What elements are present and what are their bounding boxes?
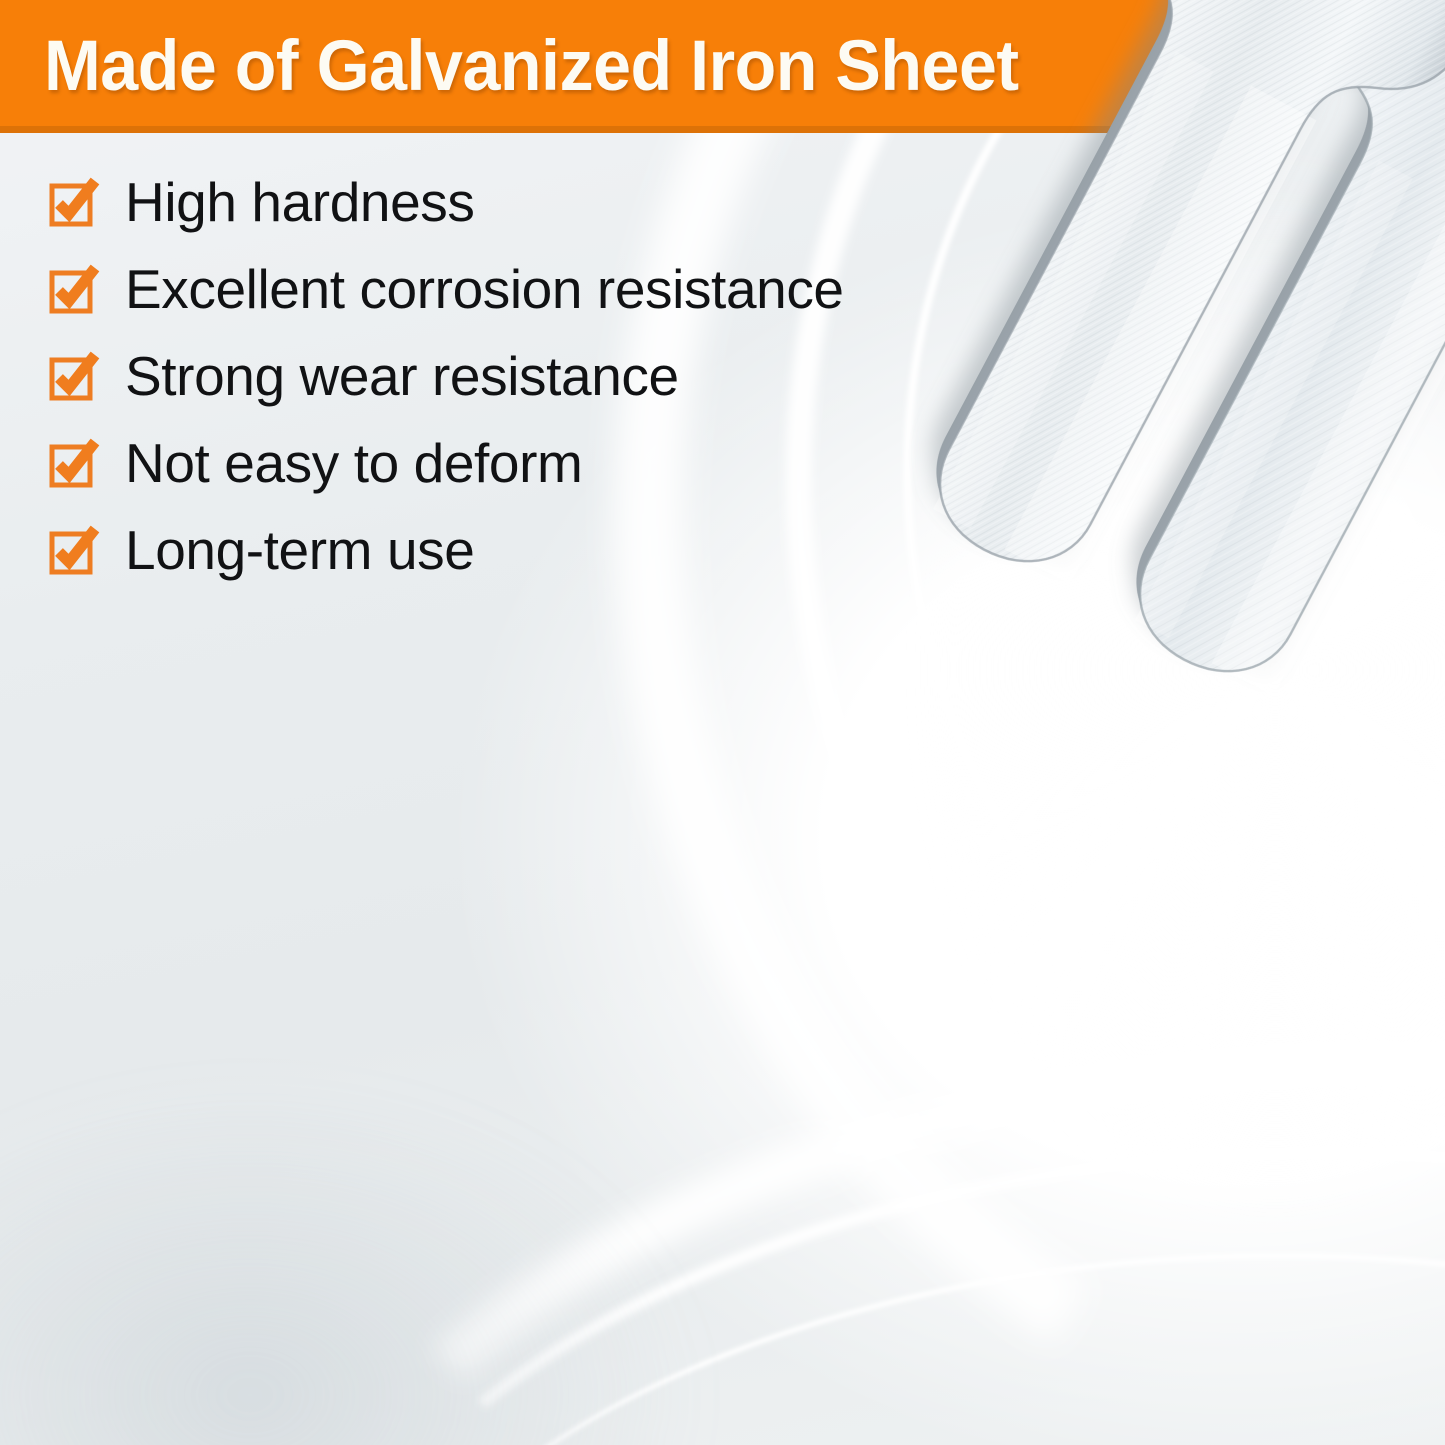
checkbox-checked-icon xyxy=(48,524,100,576)
background-shadow xyxy=(0,1085,700,1445)
list-item: Long-term use xyxy=(48,520,948,607)
list-item: Strong wear resistance xyxy=(48,346,948,433)
list-item: Not easy to deform xyxy=(48,433,948,520)
product-feature-image: Made of Galvanized Iron Sheet High hardn… xyxy=(0,0,1445,1445)
list-item: High hardness xyxy=(48,172,948,259)
checkbox-checked-icon xyxy=(48,350,100,402)
background-glow-right xyxy=(925,120,1445,1220)
checkbox-checked-icon xyxy=(48,176,100,228)
checkbox-checked-icon xyxy=(48,263,100,315)
feature-list: High hardness Excellent corrosion resist… xyxy=(48,172,948,607)
list-item-label: Strong wear resistance xyxy=(125,346,679,406)
list-item-label: Not easy to deform xyxy=(125,433,582,493)
banner-bottom-edge xyxy=(0,126,1268,133)
list-item-label: High hardness xyxy=(125,172,474,232)
checkbox-checked-icon xyxy=(48,437,100,489)
list-item-label: Long-term use xyxy=(125,520,474,580)
list-item: Excellent corrosion resistance xyxy=(48,259,948,346)
list-item-label: Excellent corrosion resistance xyxy=(125,259,844,319)
page-title: Made of Galvanized Iron Sheet xyxy=(44,21,1019,113)
